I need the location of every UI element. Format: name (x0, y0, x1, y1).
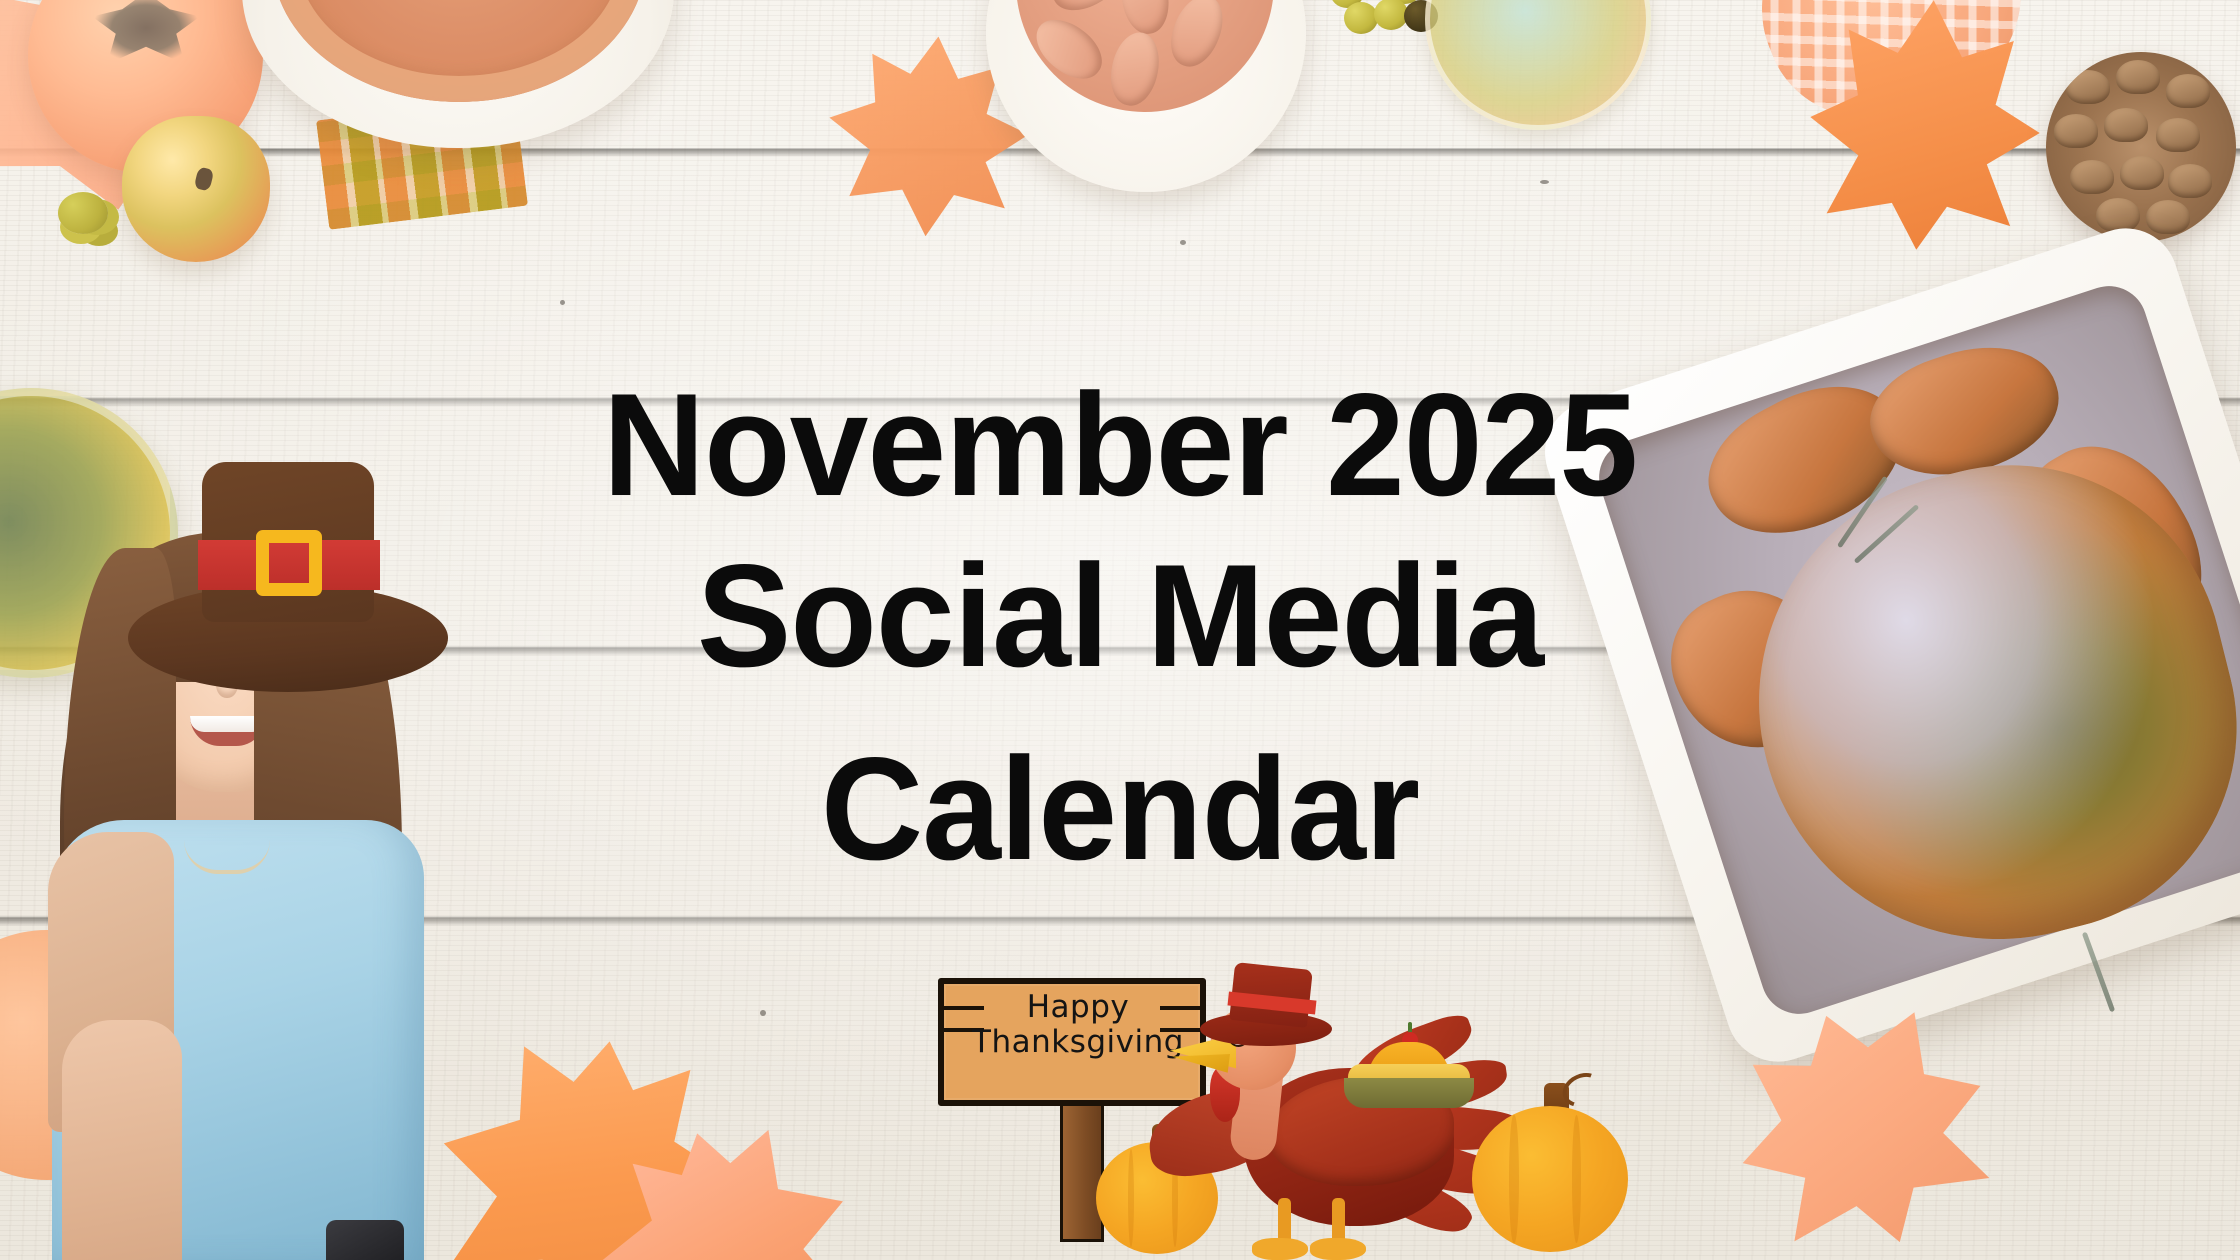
small-grapes-cluster (58, 192, 108, 234)
wood-speck (760, 1010, 766, 1016)
wood-speck (1540, 180, 1549, 184)
turkey-foot-left (1252, 1238, 1308, 1260)
handheld-device (326, 1220, 404, 1260)
hat-buckle (256, 530, 322, 596)
pumpkin-rib (1509, 1115, 1518, 1243)
wood-speck (560, 300, 565, 305)
wood-speck (1180, 240, 1186, 245)
pine-cone (2046, 52, 2236, 242)
turkey-foot-right (1310, 1238, 1366, 1260)
pumpkin-body (1472, 1106, 1628, 1252)
apple-fruit (122, 116, 270, 262)
pumpkin-rib (1128, 1149, 1134, 1248)
turkey-pilgrim-hat-icon (1200, 968, 1332, 1050)
pumpkin-pie-carried (1344, 1042, 1474, 1108)
pilgrim-hat-icon (128, 456, 448, 686)
pumpkin-large-right (1472, 1106, 1628, 1252)
thanksgiving-social-media-calendar-poster: November 2025 Social Media Calendar Happ… (0, 0, 2240, 1260)
arm-left (62, 1020, 182, 1260)
pie-tin (1344, 1078, 1474, 1108)
